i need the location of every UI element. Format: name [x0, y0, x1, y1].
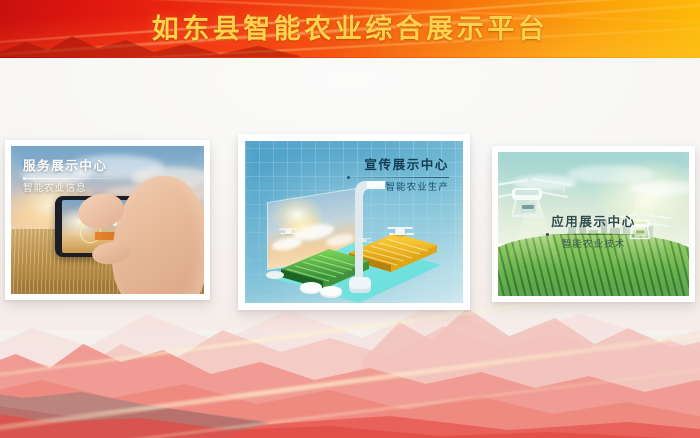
card-service-center-inner: 26° 服务展示中心 智能农业信息 [11, 146, 204, 294]
card-subtitle: 智能农业信息 [23, 182, 115, 195]
card-application-center[interactable]: 应用展示中心 智能农业技术 [492, 146, 695, 302]
card-application-center-caption: 应用展示中心 智能农业技术 [498, 214, 689, 251]
page-title: 如东县智能农业综合展示平台 [0, 9, 700, 49]
card-promotion-center[interactable]: 宣传展示中心 智能农业生产 [238, 134, 470, 310]
caption-dot [23, 177, 26, 180]
caption-dot [546, 233, 549, 236]
caption-divider [540, 234, 648, 235]
card-subtitle: 智能农业生产 [347, 181, 449, 194]
header-banner: 如东县智能农业综合展示平台 [0, 0, 700, 58]
card-service-center[interactable]: 26° 服务展示中心 智能农业信息 [5, 140, 210, 300]
card-promotion-center-caption: 宣传展示中心 智能农业生产 [347, 157, 449, 194]
banner-bottom-edge [0, 57, 700, 58]
caption-dot [347, 176, 350, 179]
card-subtitle: 智能农业技术 [498, 238, 689, 251]
caption-divider [347, 177, 449, 178]
card-application-center-inner: 应用展示中心 智能农业技术 [498, 152, 689, 296]
card-promotion-center-inner: 宣传展示中心 智能农业生产 [245, 141, 463, 303]
card-title: 服务展示中心 [23, 158, 115, 174]
caption-divider [23, 178, 115, 179]
app-root: 如东县智能农业综合展示平台 [0, 0, 700, 438]
cloud [628, 181, 689, 195]
card-service-center-caption: 服务展示中心 智能农业信息 [23, 158, 115, 195]
cloud [567, 165, 655, 183]
card-title: 宣传展示中心 [347, 157, 449, 173]
card-title: 应用展示中心 [498, 214, 689, 230]
